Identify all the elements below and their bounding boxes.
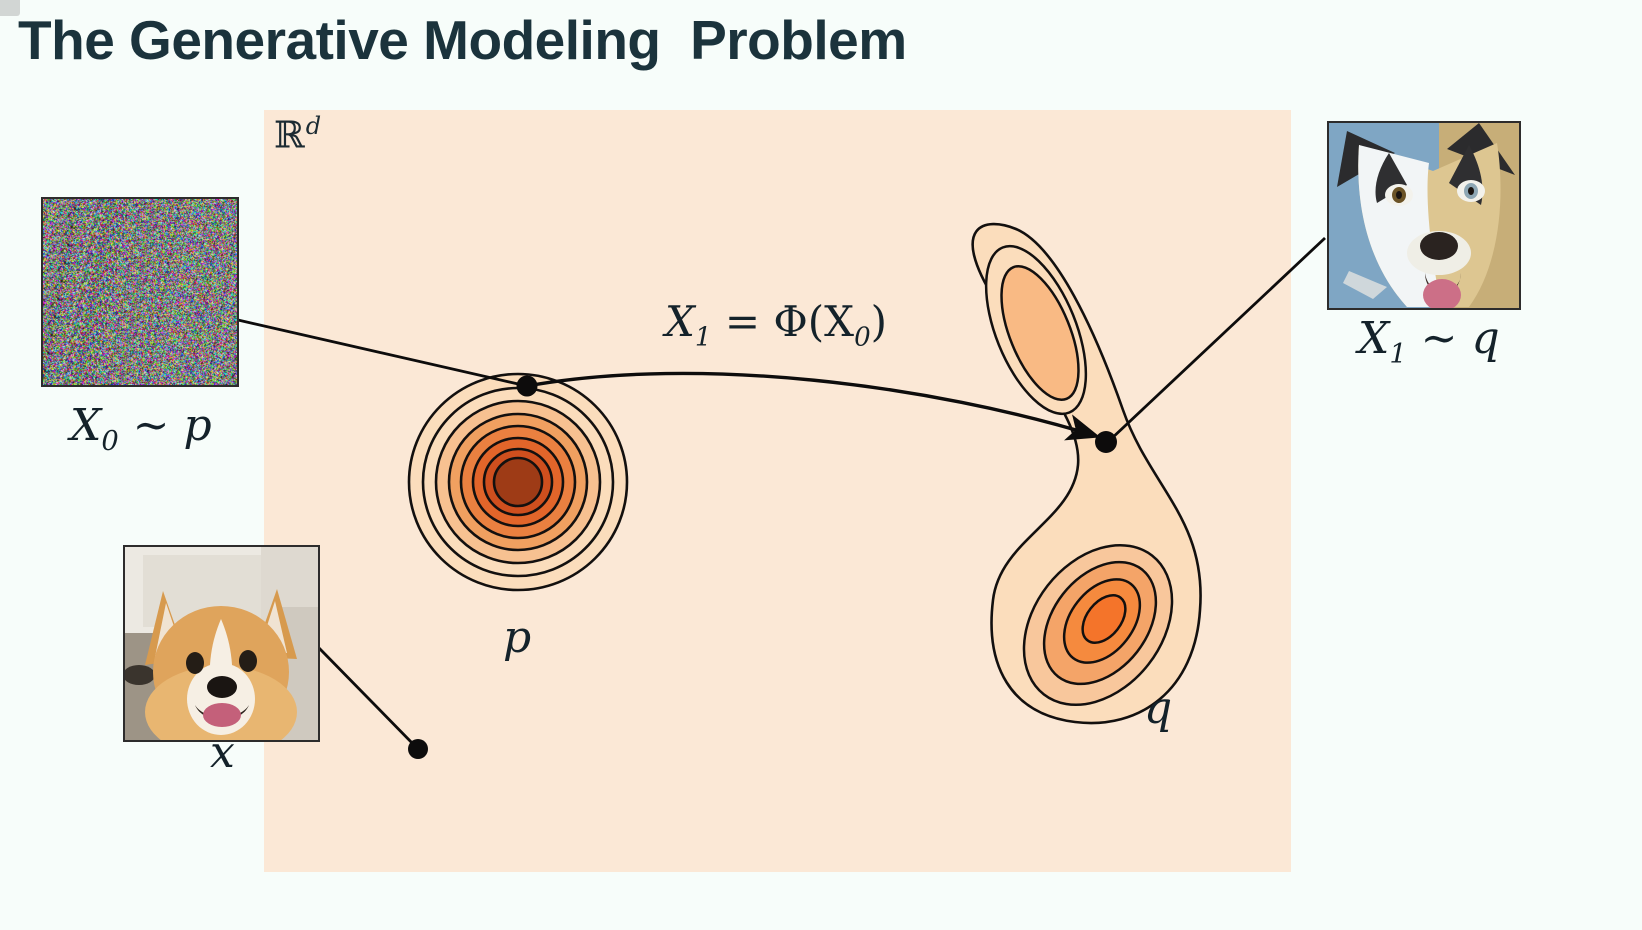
x1-density: q [1472, 313, 1500, 364]
eq-middle: = Φ(X [711, 297, 854, 346]
rgb-noise-canvas [43, 199, 237, 385]
x0-density: p [184, 400, 212, 451]
eq-sub2: 0 [854, 322, 871, 352]
slide-canvas: The Generative Modeling Problem ℝd [0, 0, 1642, 930]
x1-distribution-label: X1 ~ q [1358, 313, 1500, 370]
x1-relation: ~ [1407, 313, 1472, 364]
reals-symbol: ℝ [274, 113, 305, 156]
source-density-label: p [503, 612, 531, 663]
eq-x1: X [665, 297, 695, 346]
transport-equation: X1 = Φ(X0) [665, 297, 887, 352]
ambient-space-panel [264, 110, 1291, 872]
x1-subscript: 1 [1389, 339, 1406, 370]
eq-sub1: 1 [695, 322, 712, 352]
corner-ui-artifact [0, 0, 20, 16]
husky-illustration [1329, 123, 1519, 308]
x0-base: X [70, 400, 101, 451]
noise-image [41, 197, 239, 387]
ambient-space-label: ℝd [274, 112, 321, 156]
x0-relation: ~ [119, 400, 184, 451]
x0-subscript: 0 [101, 426, 118, 457]
page-title: The Generative Modeling Problem [18, 8, 907, 72]
eq-tail: ) [871, 297, 887, 346]
husky-photo [1327, 121, 1521, 310]
corgi-photo [123, 545, 320, 742]
corgi-illustration [125, 547, 318, 740]
data-point-label: x [210, 727, 235, 778]
dimension-exponent: d [306, 112, 321, 140]
x0-distribution-label: X0 ~ p [70, 400, 212, 457]
target-density-label: q [1144, 683, 1172, 734]
x1-base: X [1358, 313, 1389, 364]
